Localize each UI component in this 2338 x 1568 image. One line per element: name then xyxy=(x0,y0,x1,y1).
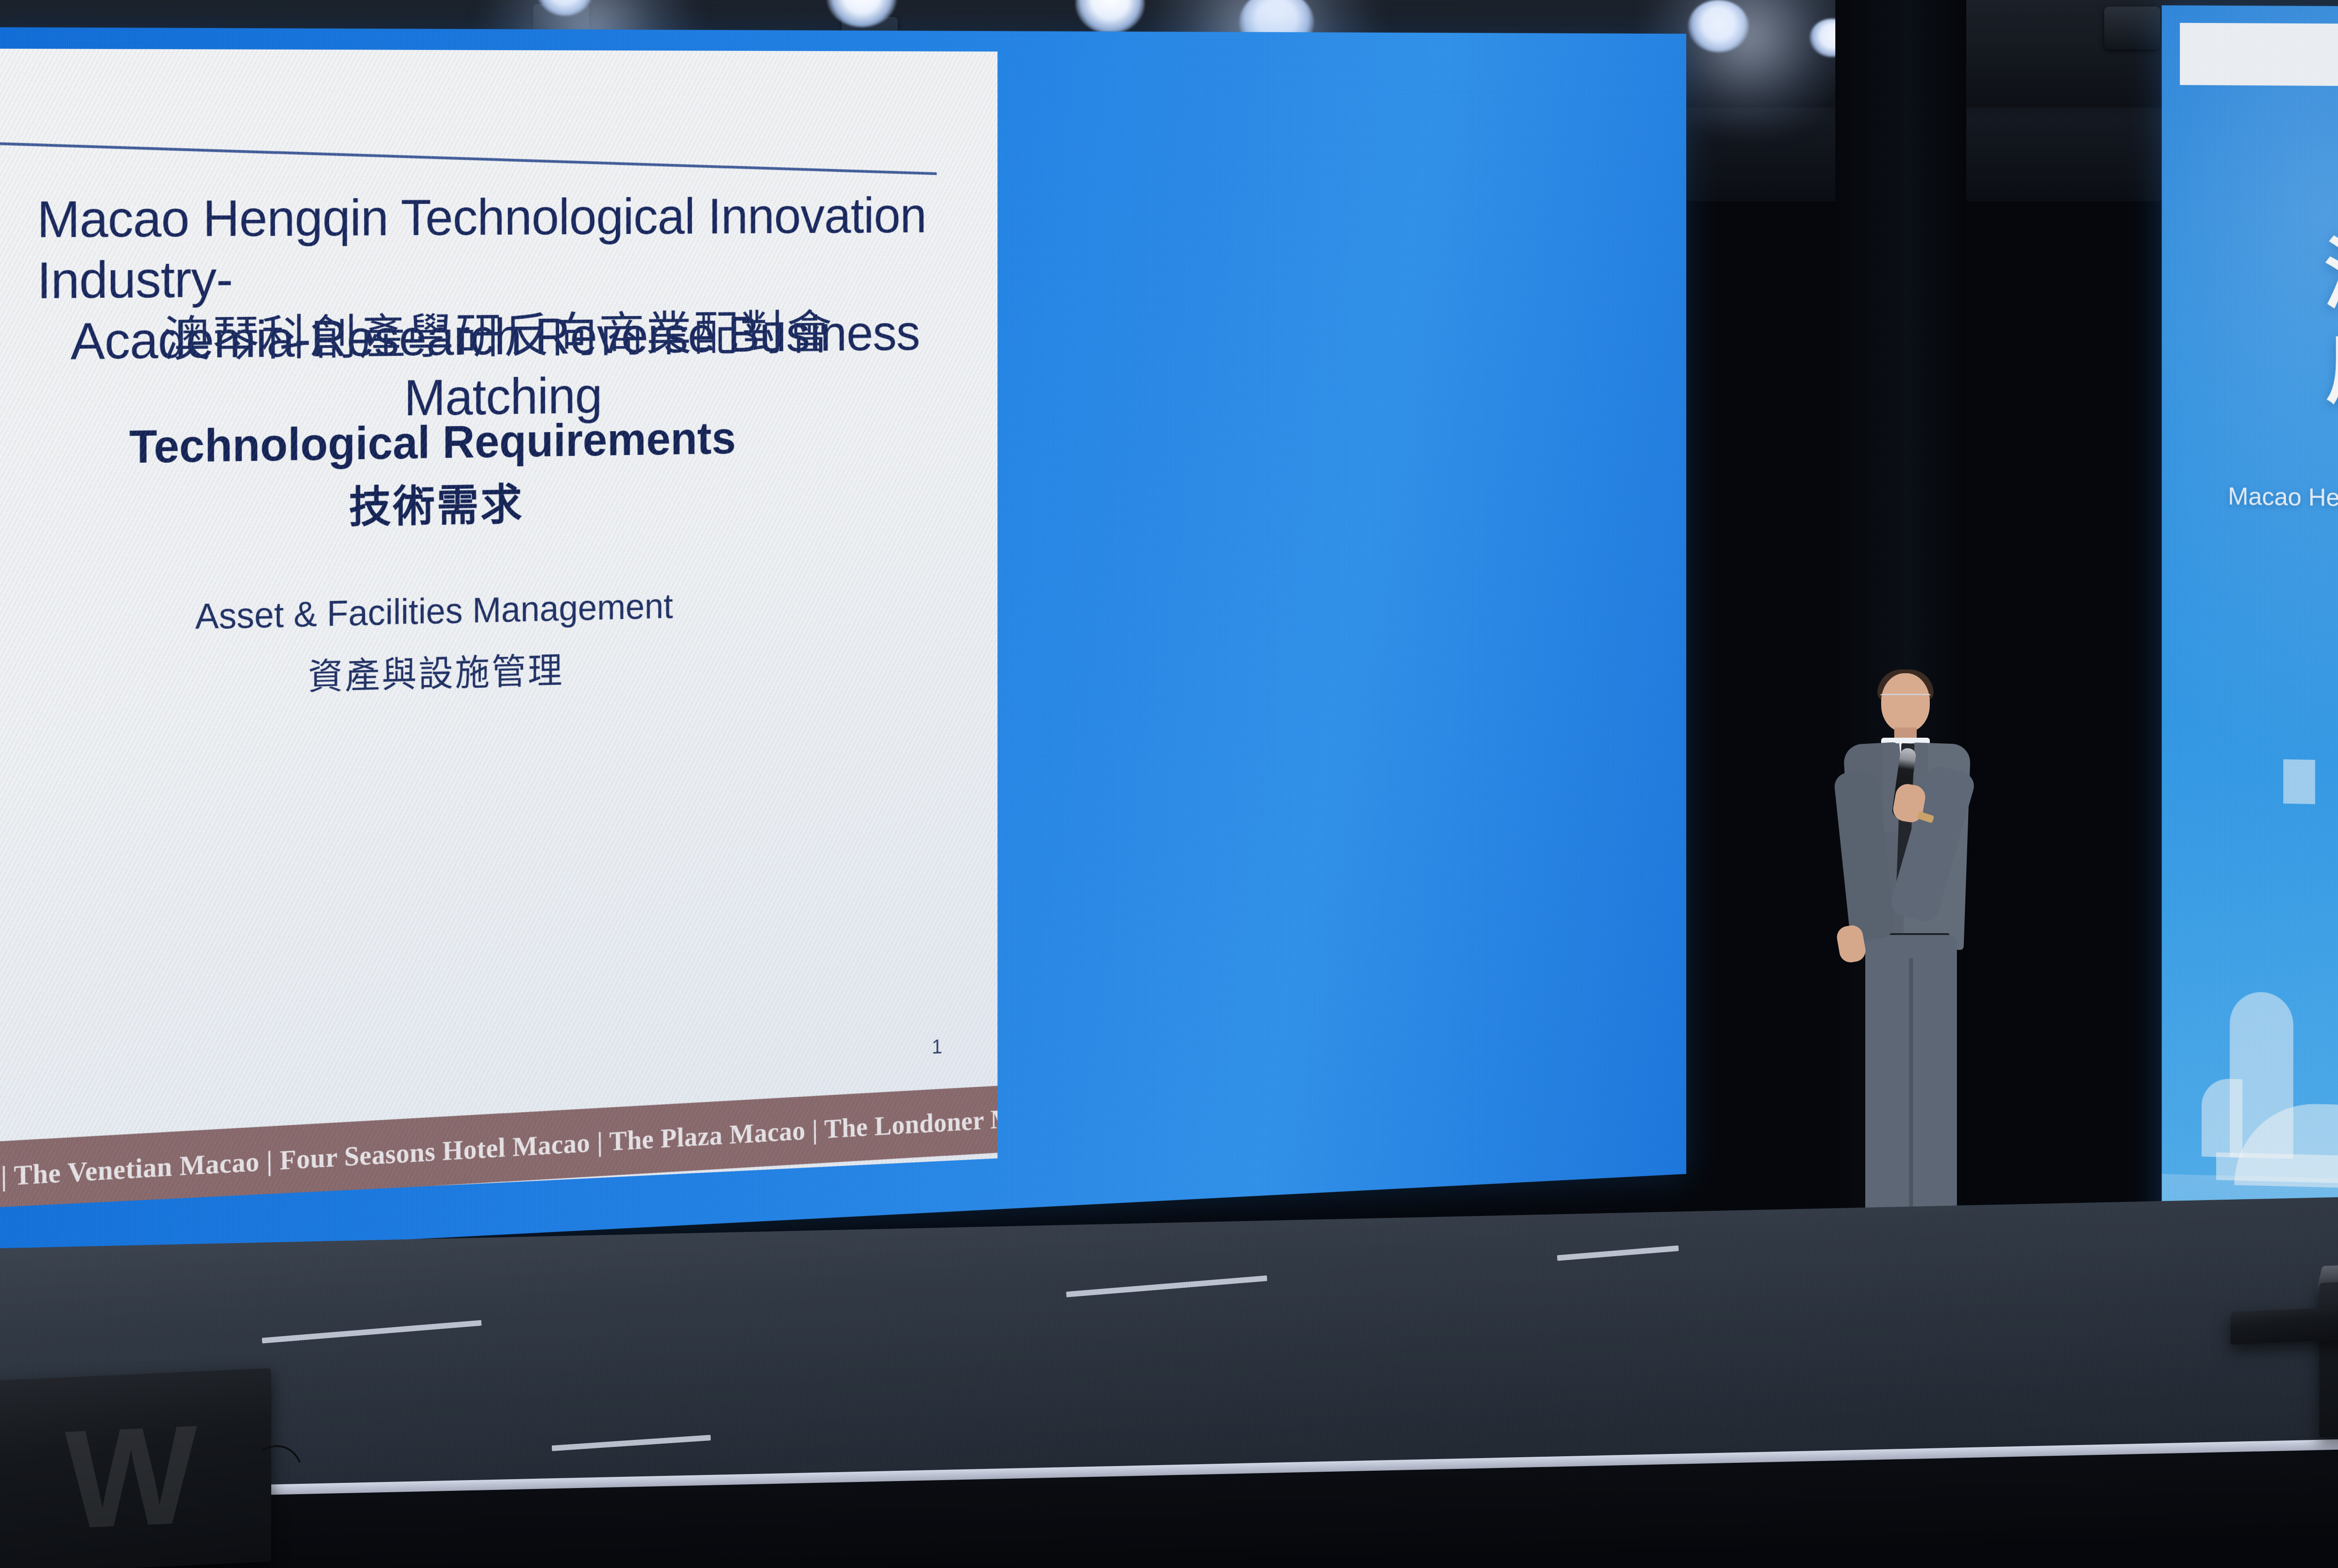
banner-title-chinese-line1: 澳琴科創產學研 xyxy=(2162,226,2338,330)
stage-speaker-cabinet-face: W xyxy=(0,1368,271,1568)
floor-marking-tape xyxy=(262,1320,482,1344)
lotus-sculpture-shape xyxy=(2230,992,2293,1159)
slide-topic-chinese: 資產與設施管理 xyxy=(37,636,823,707)
slide-subtitle-english: Technological Requirements xyxy=(37,411,823,475)
banner-logo-bar: 指導單位 Advisor 澳門特別行政區政府經濟財政司司長辦公室 G xyxy=(2180,23,2338,90)
event-banner-screen: 指導單位 Advisor 澳門特別行政區政府經濟財政司司長辦公室 G xyxy=(2162,5,2338,1318)
slide-title-chinese: 澳琴科創產學研反向商業配對會 xyxy=(37,304,951,371)
stage-speaker-brand-mark: W xyxy=(13,1404,249,1550)
floor-marking-tape xyxy=(552,1435,711,1451)
dome-building-shape xyxy=(2234,1102,2338,1189)
main-led-wall: Macao Hengqin Technological Innovation I… xyxy=(0,27,1686,1261)
presentation-slide: Macao Hengqin Technological Innovation I… xyxy=(0,49,997,1208)
banner-light-sheen xyxy=(2162,5,2338,853)
banner-subtitle-english-line2: Reverse Business Matching xyxy=(2189,512,2338,557)
spotlight-fixture-body xyxy=(2104,7,2160,50)
banner-subtitle-english: Macao Hengqin Technological Innovation I… xyxy=(2189,480,2338,557)
waterfront-slab xyxy=(2216,1152,2338,1201)
lotus-petal-shape xyxy=(2201,1079,2242,1158)
floor-marking-tape xyxy=(1066,1275,1267,1297)
stage-wedge-monitor: W xyxy=(2319,1270,2338,1438)
stage-speaker-cabinet: W xyxy=(0,1368,271,1568)
logo-row-advisor: 指導單位 Advisor 澳門特別行政區政府經濟財政司司長辦公室 G xyxy=(2180,33,2338,58)
slide-title-english-line1: Macao Hengqin Technological Innovation I… xyxy=(37,186,951,311)
banner-title-chinese-line2: 反向商業配對會 xyxy=(2162,320,2338,425)
stage-photograph: Macao Hengqin Technological Innovation I… xyxy=(0,0,2338,1568)
slide-page-number: 1 xyxy=(932,1036,942,1059)
speaker-head xyxy=(1881,673,1930,732)
logo-row-organizers: 主辦單位 Organizers 橫琴 xyxy=(2180,57,2338,79)
floor-marking-tape xyxy=(1557,1245,1679,1261)
banner-event-date: 29 / 05 / 2025 xyxy=(2162,576,2338,626)
accent-square xyxy=(2283,759,2315,804)
banner-title-chinese: 澳琴科創產學研 反向商業配對會 xyxy=(2162,226,2338,425)
eyeglasses-icon xyxy=(1880,694,1931,703)
wedge-monitor-face: W xyxy=(2319,1270,2338,1438)
slide-topic-english: Asset & Facilities Management xyxy=(37,582,823,641)
wedge-monitor-riser-face xyxy=(2230,1306,2338,1345)
slide-subtitle-chinese: 技術需求 xyxy=(37,465,823,541)
spotlight-icon xyxy=(1688,0,1749,52)
stage-wedge-monitor-riser xyxy=(2230,1306,2338,1345)
